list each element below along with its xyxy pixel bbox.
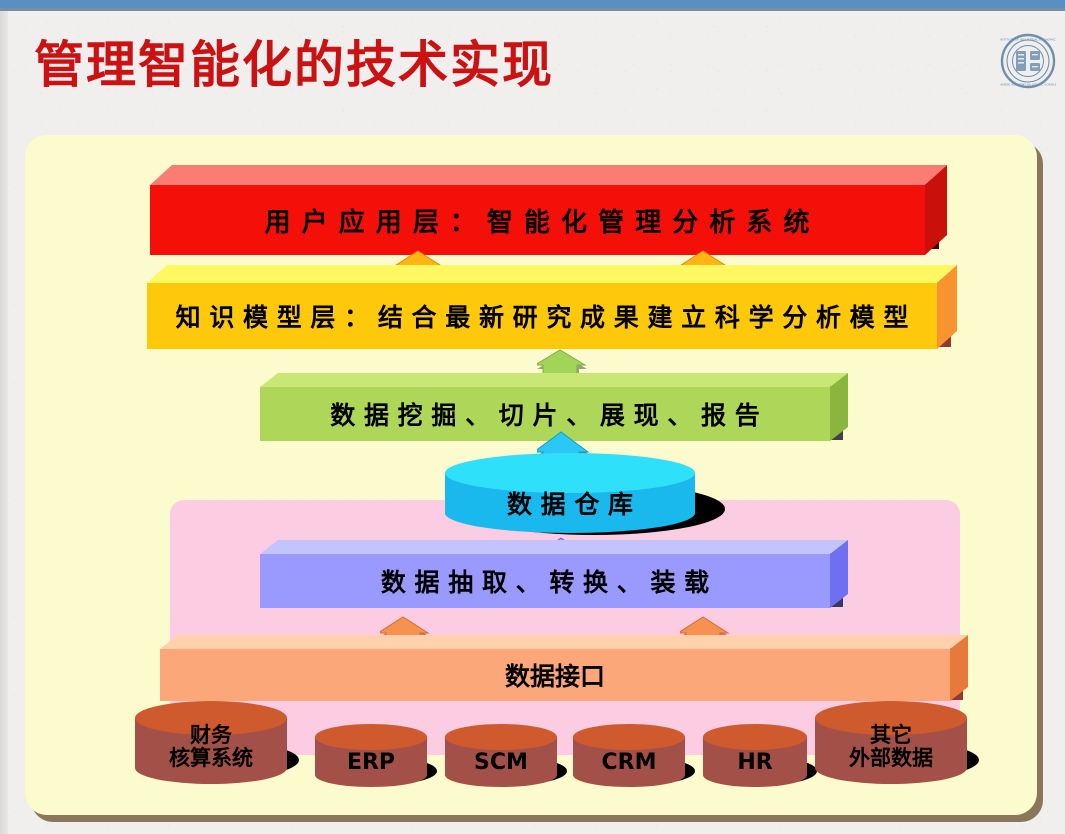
source-label: SCM (445, 751, 557, 775)
diagram-canvas: 用 户 应 用 层 ： 智 能 化 管 理 分 析 系 统 知 识 模 型 层 (25, 135, 1037, 815)
layer-etl-layer[interactable]: 数 据 抽 取 、 转 换 、 装 载 (260, 540, 830, 602)
source-label-line: SCM (445, 751, 557, 775)
source-label-line: 其它 (815, 724, 967, 747)
source-external[interactable]: 其它 外部数据 (815, 700, 975, 790)
source-label: 财务 核算系统 (135, 724, 287, 769)
layer-data-mining-layer[interactable]: 数 据 挖 掘 、 切 片 、 展 现 、 报 告 (260, 373, 830, 435)
left-edge-strip (0, 11, 8, 834)
layer-data-interface-layer[interactable]: 数据接口 (160, 635, 950, 697)
layer-knowledge-model-layer[interactable]: 知 识 模 型 层 ： 结 合 最 新 研 究 成 果 建 立 科 学 分 析 … (147, 265, 937, 345)
slide-canvas: 管理智能化的技术实现 INSTITUTE OF INDUSTRIAL ECONO… (0, 0, 1065, 834)
source-erp[interactable]: ERP (315, 723, 435, 793)
source-hr[interactable]: HR (703, 723, 813, 793)
source-label-line: ERP (315, 751, 427, 775)
layer-label: 数 据 仓 库 (445, 491, 695, 518)
source-label: ERP (315, 751, 427, 775)
source-finance[interactable]: 财务 核算系统 (135, 700, 295, 790)
source-label: 其它 外部数据 (815, 724, 967, 769)
top-accent-bar (0, 0, 1065, 8)
top-accent-underline (0, 8, 1065, 11)
source-label: HR (703, 751, 807, 775)
svg-text:CHINESE ACADEMY OF SOCIAL SCIE: CHINESE ACADEMY OF SOCIAL SCIENCES (1000, 83, 1056, 87)
institute-seal-logo: INSTITUTE OF INDUSTRIAL ECONOMICS CHINES… (1000, 32, 1056, 90)
source-label-line: 核算系统 (135, 747, 287, 770)
source-scm[interactable]: SCM (445, 723, 565, 793)
layer-data-warehouse[interactable]: 数 据 仓 库 (445, 447, 715, 547)
layer-label: 知 识 模 型 层 ： 结 合 最 新 研 究 成 果 建 立 科 学 分 析 … (147, 283, 937, 349)
source-label-line: 外部数据 (815, 747, 967, 770)
layer-label: 用 户 应 用 层 ： 智 能 化 管 理 分 析 系 统 (150, 185, 925, 255)
source-label-line: HR (703, 751, 807, 775)
source-label: CRM (573, 751, 685, 775)
svg-text:INSTITUTE OF INDUSTRIAL ECONOM: INSTITUTE OF INDUSTRIAL ECONOMICS (1000, 38, 1056, 42)
page-title: 管理智能化的技术实现 (34, 30, 734, 100)
layer-user-application-layer[interactable]: 用 户 应 用 层 ： 智 能 化 管 理 分 析 系 统 (150, 165, 925, 245)
layer-label: 数据接口 (160, 649, 950, 701)
source-label-line: 财务 (135, 724, 287, 747)
source-crm[interactable]: CRM (573, 723, 693, 793)
source-label-line: CRM (573, 751, 685, 775)
layer-label: 数 据 抽 取 、 转 换 、 装 载 (260, 554, 830, 608)
